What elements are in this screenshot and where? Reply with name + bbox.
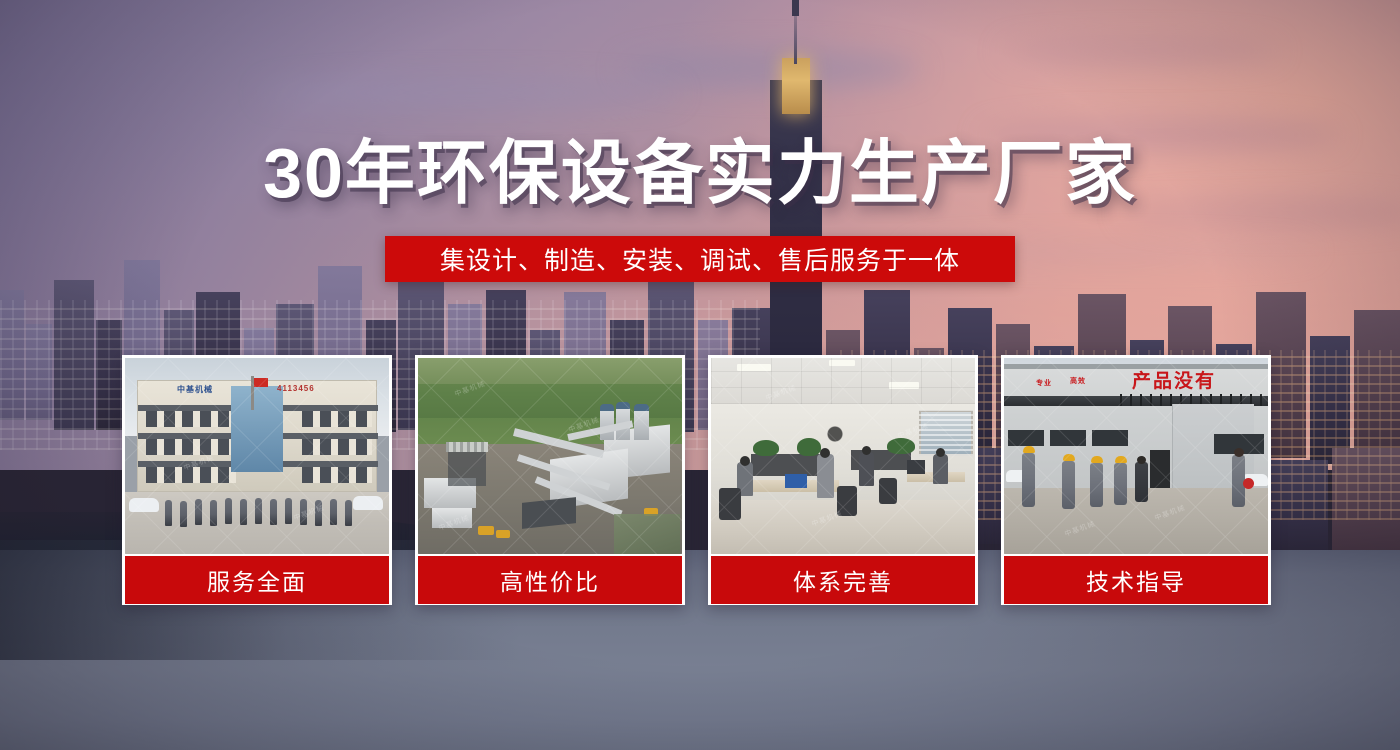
card-photo-workers: 产品没有 专业 高效 — [1004, 358, 1268, 554]
banner-stage: 30年环保设备实力生产厂家 集设计、制造、安装、调试、售后服务于一体 — [0, 0, 1400, 750]
card-label-text: 体系完善 — [793, 563, 893, 597]
tower-crown-light — [782, 58, 810, 114]
feature-card-value[interactable]: 中基机械 中基机械 中基机械 高性价比 — [415, 355, 685, 605]
photo-mesh-overlay-4 — [1004, 358, 1268, 554]
card-label-text: 高性价比 — [500, 563, 600, 597]
card-label-guidance: 技术指导 — [1004, 556, 1268, 604]
card-photo-plant-aerial: 中基机械 中基机械 中基机械 — [418, 358, 682, 554]
subtitle-banner: 集设计、制造、安装、调试、售后服务于一体 — [385, 236, 1015, 282]
card-label-text: 服务全面 — [207, 563, 307, 597]
feature-card-guidance[interactable]: 产品没有 专业 高效 — [1001, 355, 1271, 605]
feature-card-system[interactable]: 中基机械 中基机械 中基机械 体系完善 — [708, 355, 978, 605]
card-photo-office-building: 中基机械 4113456 中基机械 中基机械 — [125, 358, 389, 554]
feature-card-list: 中基机械 4113456 中基机械 中基机械 — [122, 355, 1278, 605]
page-title: 30年环保设备实力生产厂家 — [0, 138, 1400, 208]
photo-mesh-overlay-3 — [711, 358, 975, 554]
tower-tip — [792, 0, 799, 16]
card-label-system: 体系完善 — [711, 556, 975, 604]
card-label-service: 服务全面 — [125, 556, 389, 604]
card-label-text: 技术指导 — [1086, 563, 1186, 597]
photo-mesh-overlay-1 — [125, 358, 389, 554]
card-label-value: 高性价比 — [418, 556, 682, 604]
subtitle-text: 集设计、制造、安装、调试、售后服务于一体 — [440, 241, 960, 277]
feature-card-service[interactable]: 中基机械 4113456 中基机械 中基机械 — [122, 355, 392, 605]
card-photo-office-interior: 中基机械 中基机械 中基机械 — [711, 358, 975, 554]
